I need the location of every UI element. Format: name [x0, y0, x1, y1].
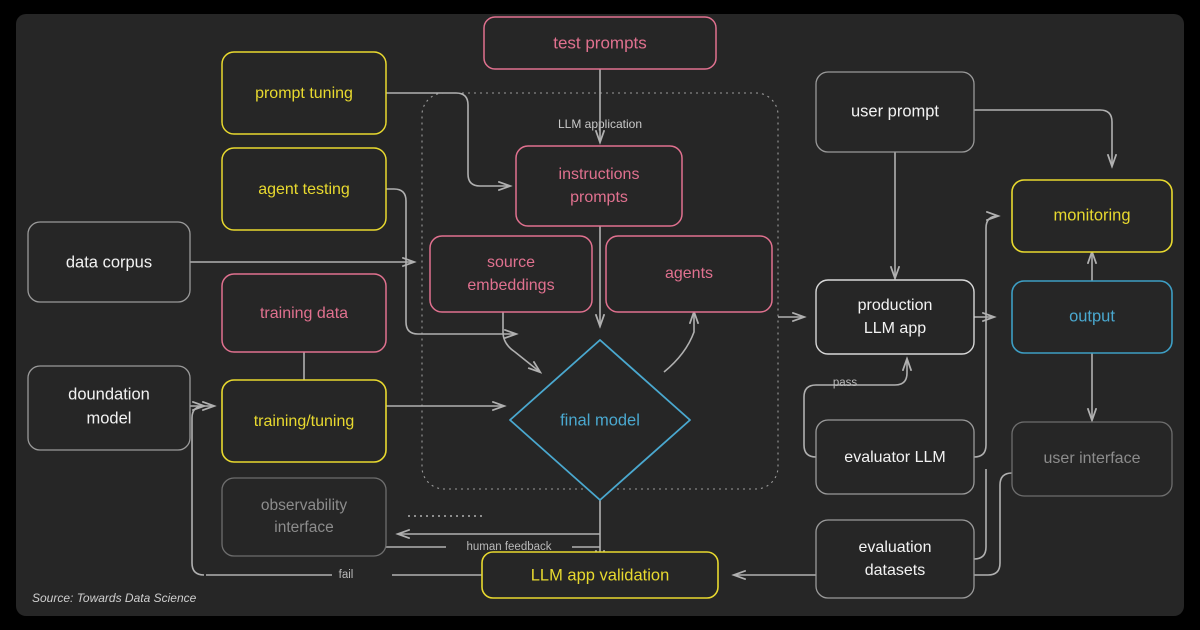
edge-userprompt-to-monitoring	[974, 110, 1112, 166]
node-monitoring[interactable]: monitoring	[1012, 180, 1172, 252]
edge-evaluator-to-monitoring	[974, 216, 998, 457]
node-label-training-data: training data	[260, 305, 348, 322]
node-label-observability-interface-line1: observability	[261, 497, 347, 514]
node-label-source-embeddings-line1: source	[487, 254, 535, 271]
node-agents[interactable]: agents	[606, 236, 772, 312]
node-label-agent-testing: agent testing	[258, 181, 350, 198]
node-agent-testing[interactable]: agent testing	[222, 148, 386, 230]
node-label-evaluation-datasets-line1: evaluation	[859, 539, 932, 556]
node-label-llm-app-validation: LLM app validation	[531, 566, 670, 584]
node-data-corpus[interactable]: data corpus	[28, 222, 190, 302]
node-label-final-model: final model	[560, 411, 640, 429]
node-label-agents: agents	[665, 265, 713, 282]
node-llm-app-validation[interactable]: LLM app validation	[482, 552, 718, 598]
figure-frame: LLM application	[0, 0, 1200, 630]
edge-label-fail: fail	[339, 569, 354, 581]
node-label-data-corpus: data corpus	[66, 253, 152, 271]
node-label-prompt-tuning: prompt tuning	[255, 85, 353, 102]
node-source-embeddings[interactable]: source embeddings	[430, 236, 592, 312]
node-final-model[interactable]: final model	[510, 340, 690, 500]
node-label-user-prompt: user prompt	[851, 102, 939, 120]
node-user-prompt[interactable]: user prompt	[816, 72, 974, 152]
node-label-evaluation-datasets-line2: datasets	[865, 562, 925, 579]
edge-prompttuning-to-instructions	[386, 93, 510, 186]
edge-fail-to-trainingtuning	[192, 406, 204, 575]
node-output[interactable]: output	[1012, 281, 1172, 353]
node-box-source-embeddings[interactable]	[430, 236, 592, 312]
node-label-observability-interface-line2: interface	[274, 519, 333, 536]
edge-evaldatasets-to-spine	[974, 469, 986, 559]
node-label-training-tuning: training/tuning	[254, 413, 355, 430]
node-label-output: output	[1069, 307, 1115, 325]
edge-label-pass: pass	[833, 377, 858, 389]
node-label-evaluator-llm: evaluator LLM	[844, 449, 945, 466]
node-evaluation-datasets[interactable]: evaluation datasets	[816, 520, 974, 598]
node-box-production-llm-app[interactable]	[816, 280, 974, 354]
node-label-user-interface: user interface	[1044, 450, 1141, 467]
node-box-observability-interface[interactable]	[222, 478, 386, 556]
node-prompt-tuning[interactable]: prompt tuning	[222, 52, 386, 134]
source-attribution: Source: Towards Data Science	[32, 591, 197, 605]
node-box-instructions-prompts[interactable]	[516, 146, 682, 226]
node-training-data[interactable]: training data	[222, 274, 386, 352]
node-label-production-llm-app-line1: production	[858, 297, 933, 314]
node-label-source-embeddings-line2: embeddings	[467, 277, 554, 294]
node-training-tuning[interactable]: training/tuning	[222, 380, 386, 462]
node-label-production-llm-app-line2: LLM app	[864, 320, 926, 337]
diagram-canvas: LLM application	[16, 14, 1184, 616]
node-label-doundation-model-line1: doundation	[68, 385, 150, 403]
node-box-evaluation-datasets[interactable]	[816, 520, 974, 598]
node-observability-interface[interactable]: observability interface	[222, 478, 386, 556]
node-label-monitoring: monitoring	[1053, 206, 1130, 224]
node-production-llm-app[interactable]: production LLM app	[816, 280, 974, 354]
node-label-instructions-prompts-line2: prompts	[570, 189, 628, 206]
node-evaluator-llm[interactable]: evaluator LLM	[816, 420, 974, 494]
node-user-interface[interactable]: user interface	[1012, 422, 1172, 496]
node-label-instructions-prompts-line1: instructions	[559, 166, 640, 183]
node-test-prompts[interactable]: test prompts	[484, 17, 716, 69]
node-label-doundation-model-line2: model	[87, 409, 132, 427]
node-label-test-prompts: test prompts	[553, 33, 647, 52]
node-box-doundation-model[interactable]	[28, 366, 190, 450]
node-doundation-model[interactable]: doundation model	[28, 366, 190, 450]
diagram-svg: LLM application	[16, 14, 1184, 616]
node-instructions-prompts[interactable]: instructions prompts	[516, 146, 682, 226]
edge-finalmodel-to-agents	[664, 312, 694, 372]
edge-sourceembeddings-to-finalmodel	[503, 310, 540, 372]
